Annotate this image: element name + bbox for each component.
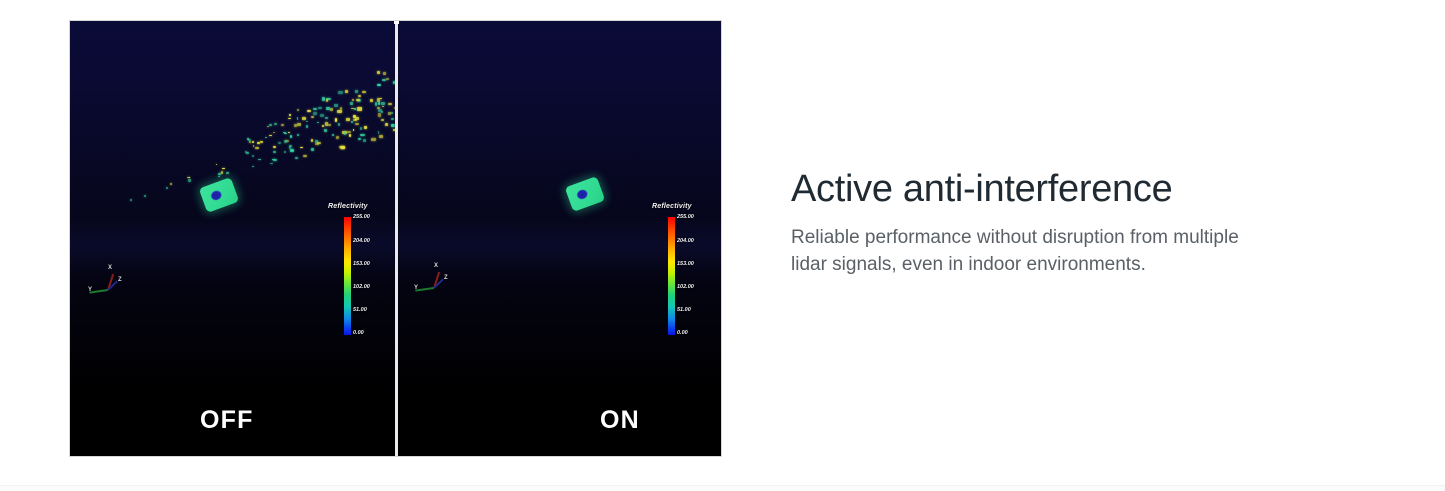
feature-description: Reliable performance without disruption … [791,225,1269,279]
legend-tick: 255.00 [677,215,694,221]
reflectivity-legend-off: Reflectivity 255.00 204.00 153.00 102.00… [328,203,384,339]
legend-title: Reflectivity [652,203,692,210]
legend-title: Reflectivity [328,203,368,210]
axis-z-label: Z [444,275,448,281]
page-bottom-divider [0,485,1445,491]
legend-tick: 153.00 [353,262,370,268]
page-title: Active anti-interference [791,168,1311,211]
legend-tick: 0.00 [353,331,364,337]
state-caption-off: OFF [200,408,254,433]
feature-copy-block: Active anti-interference Reliable perfor… [791,168,1311,278]
legend-tick-list: 255.00 204.00 153.00 102.00 51.00 0.00 [353,215,385,337]
legend-tick: 153.00 [677,262,694,268]
legend-tick: 204.00 [677,239,694,245]
divider-grip-icon[interactable] [394,21,399,24]
comparison-divider-handle[interactable] [395,21,398,456]
axis-x-label: X [434,263,438,269]
legend-tick: 255.00 [353,215,370,221]
state-caption-on: ON [600,408,640,433]
legend-tick: 0.00 [677,331,688,337]
legend-tick: 204.00 [353,239,370,245]
legend-tick-list: 255.00 204.00 153.00 102.00 51.00 0.00 [677,215,709,337]
legend-tick: 102.00 [353,285,370,291]
lidar-comparison-viewer[interactable]: X Y Z Reflectivity 255.00 204.00 153.00 … [70,21,721,456]
axis-gizmo-on: X Y Z [414,259,456,297]
axis-z-label: Z [118,277,122,283]
axis-y-label: Y [88,287,92,293]
legend-tick: 51.00 [677,308,691,314]
reflectivity-legend-on: Reflectivity 255.00 204.00 153.00 102.00… [652,203,708,339]
axis-y-label: Y [414,285,418,291]
legend-tick: 102.00 [677,285,694,291]
comparison-pane-on: X Y Z Reflectivity 255.00 204.00 153.00 … [396,21,721,456]
axis-gizmo-off: X Y Z [88,261,130,299]
comparison-pane-off: X Y Z Reflectivity 255.00 204.00 153.00 … [70,21,396,456]
legend-colorbar [344,217,351,335]
legend-tick: 51.00 [353,308,367,314]
legend-colorbar [668,217,675,335]
axis-x-label: X [108,265,112,271]
